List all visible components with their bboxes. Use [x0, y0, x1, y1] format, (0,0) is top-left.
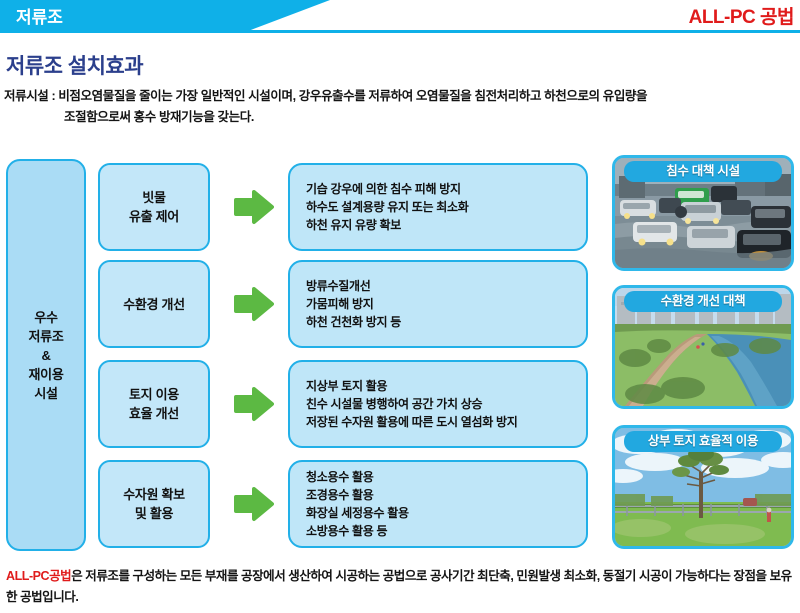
detail-box-2[interactable]: 지상부 토지 활용 친수 시설물 병행하여 공간 가치 상승 저장된 수자원 활…	[288, 360, 588, 448]
photo-card-stream: 수환경 개선 대책	[612, 285, 794, 409]
category-column: 빗물 유출 제어 수환경 개선 토지 이용 효율 개선 수자원 확보 및 활용	[98, 155, 210, 555]
right-arrow-icon	[234, 286, 274, 322]
photo-caption-0: 침수 대책 시설	[624, 161, 782, 182]
right-arrow-icon	[234, 189, 274, 225]
arrow-column	[228, 155, 286, 555]
intro-paragraph: 저류시설 : 비점오염물질을 줄이는 가장 일반적인 시설이며, 강우유출수를 …	[4, 86, 796, 128]
category-label-2: 토지 이용 효율 개선	[129, 385, 179, 423]
footer-note: ALL-PC공법은 저류조를 구성하는 모든 부재를 공장에서 생산하여 시공하…	[6, 566, 796, 608]
diagram-main-box-label: 우수 저류조 & 재이용 시설	[29, 308, 64, 403]
photo-caption-2: 상부 토지 효율적 이용	[624, 431, 782, 452]
page-header: 저류조 ALL-PC 공법	[0, 0, 800, 33]
diagram-main-box: 우수 저류조 & 재이용 시설	[6, 159, 86, 551]
detail-label-2: 지상부 토지 활용 친수 시설물 병행하여 공간 가치 상승 저장된 수자원 활…	[290, 377, 518, 431]
intro-lead-label: 저류시설 :	[4, 89, 58, 103]
category-box-0[interactable]: 빗물 유출 제어	[98, 163, 210, 251]
category-box-2[interactable]: 토지 이용 효율 개선	[98, 360, 210, 448]
header-rule	[0, 30, 800, 33]
category-label-0: 빗물 유출 제어	[129, 188, 179, 226]
photo-caption-1: 수환경 개선 대책	[624, 291, 782, 312]
detail-label-3: 청소용수 활용 조경용수 활용 화장실 세정용수 활용 소방용수 활용 등	[290, 468, 409, 540]
category-box-3[interactable]: 수자원 확보 및 활용	[98, 460, 210, 548]
brand-logo-text: ALL-PC 공법	[689, 2, 794, 29]
page-title: 저류조 설치효과	[6, 50, 143, 80]
header-tab-label: 저류조	[16, 3, 63, 28]
footer-brand-label: ALL-PC공법	[6, 569, 71, 583]
detail-box-1[interactable]: 방류수질개선 가뭄피해 방지 하천 건천화 방지 등	[288, 260, 588, 348]
detail-label-0: 기습 강우에 의한 침수 피해 방지 하수도 설계용량 유지 또는 최소화 하천…	[290, 180, 469, 234]
photo-card-flood: 침수 대책 시설	[612, 155, 794, 271]
category-label-3: 수자원 확보 및 활용	[123, 485, 185, 523]
intro-line-2: 조절함으로써 홍수 방재기능을 갖는다.	[4, 107, 796, 128]
category-label-1: 수환경 개선	[123, 295, 185, 314]
detail-column: 기습 강우에 의한 침수 피해 방지 하수도 설계용량 유지 또는 최소화 하천…	[288, 155, 588, 555]
right-arrow-icon	[234, 486, 274, 522]
detail-label-1: 방류수질개선 가뭄피해 방지 하천 건천화 방지 등	[290, 277, 401, 331]
detail-box-0[interactable]: 기습 강우에 의한 침수 피해 방지 하수도 설계용량 유지 또는 최소화 하천…	[288, 163, 588, 251]
detail-box-3[interactable]: 청소용수 활용 조경용수 활용 화장실 세정용수 활용 소방용수 활용 등	[288, 460, 588, 548]
photo-card-park: 상부 토지 효율적 이용	[612, 425, 794, 549]
intro-line-1: 비점오염물질을 줄이는 가장 일반적인 시설이며, 강우유출수를 저류하여 오염…	[58, 89, 647, 103]
category-box-1[interactable]: 수환경 개선	[98, 260, 210, 348]
photo-column: 침수 대책 시설	[612, 155, 797, 555]
footer-text: 은 저류조를 구성하는 모든 부재를 공장에서 생산하여 시공하는 공법으로 공…	[6, 569, 792, 604]
right-arrow-icon	[234, 386, 274, 422]
